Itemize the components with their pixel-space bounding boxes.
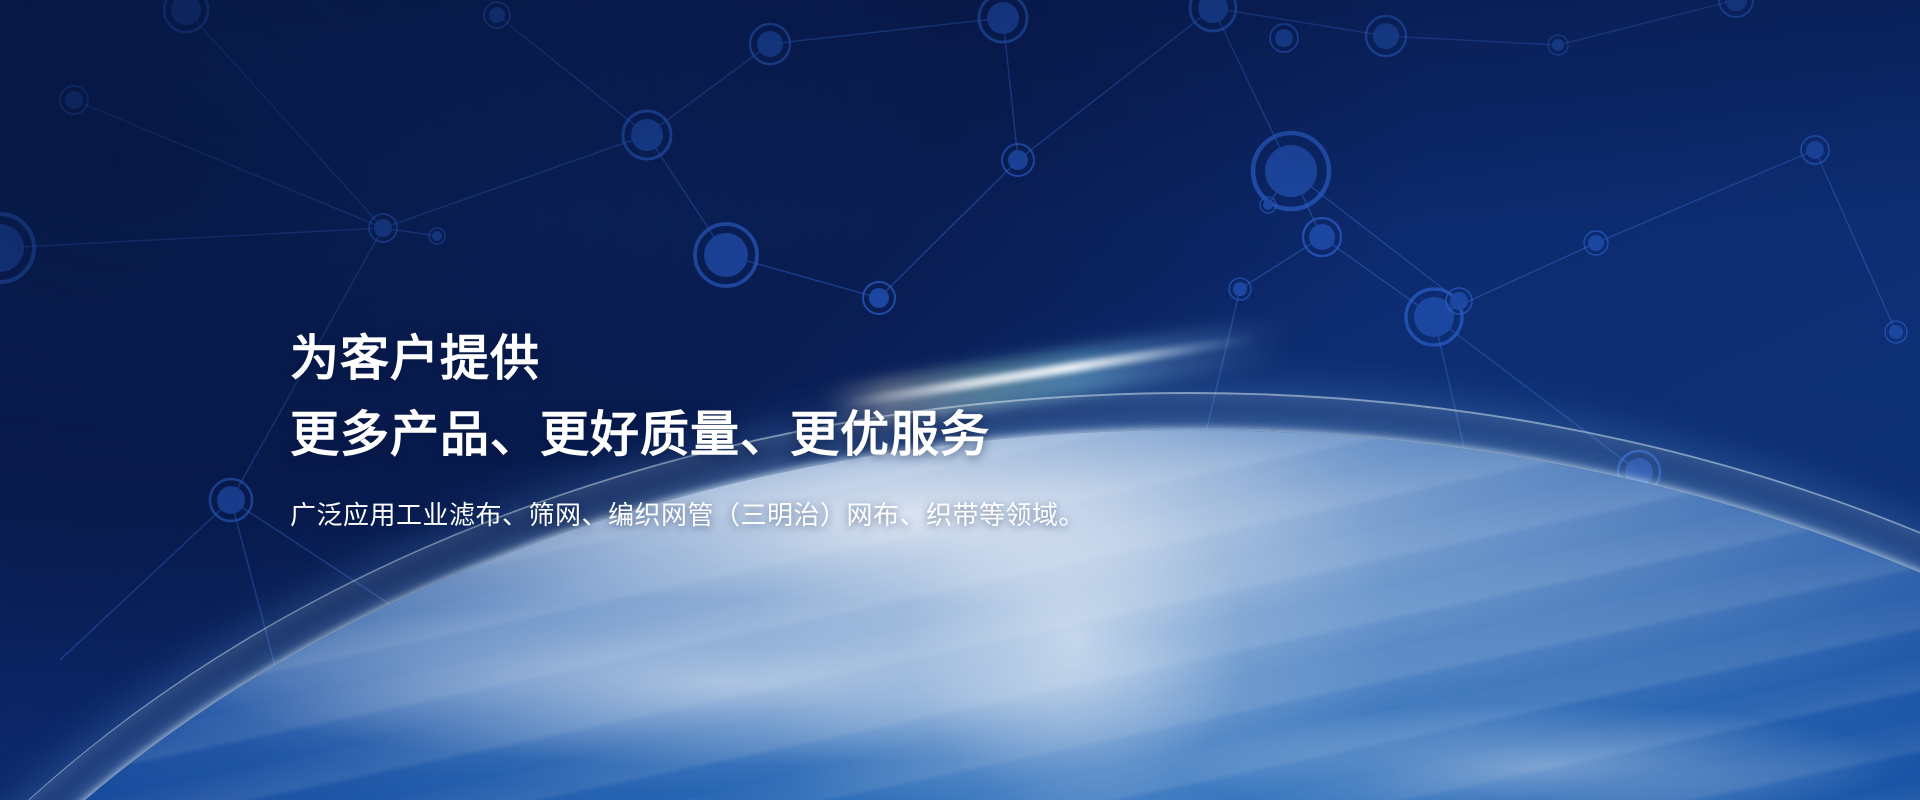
headline-line-1: 为客户提供 [290,322,1570,396]
headline-line-2: 更多产品、更好质量、更优服务 [290,398,1570,472]
hero-banner: 为客户提供 更多产品、更好质量、更优服务 广泛应用工业滤布、筛网、编织网管（三明… [0,0,1920,800]
hero-copy: 为客户提供 更多产品、更好质量、更优服务 广泛应用工业滤布、筛网、编织网管（三明… [290,322,1570,536]
hero-subtitle: 广泛应用工业滤布、筛网、编织网管（三明治）网布、织带等领域。 [290,496,1570,536]
